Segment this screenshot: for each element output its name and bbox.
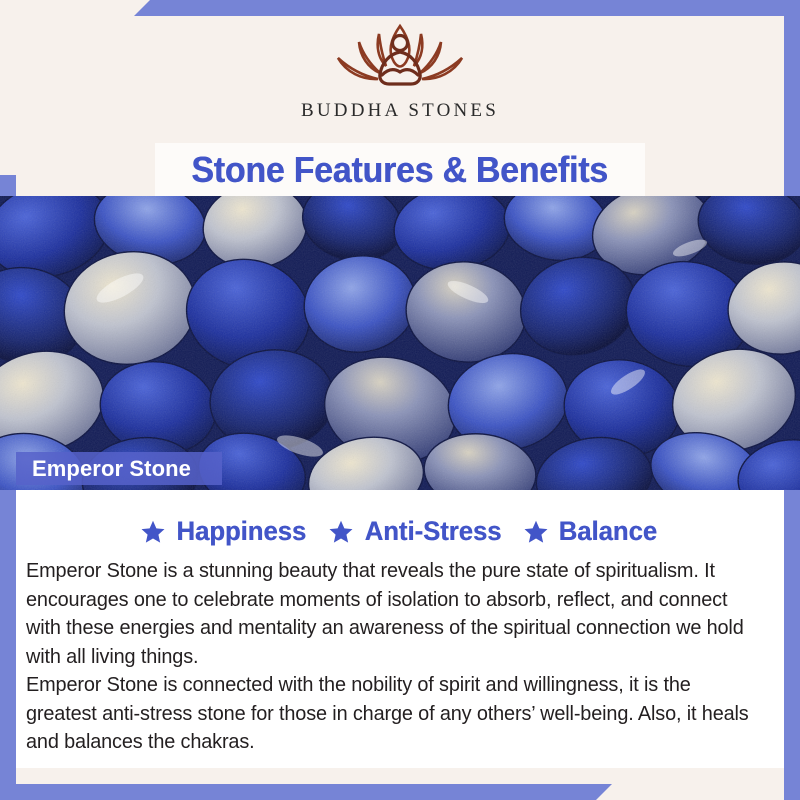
stone-photo xyxy=(0,196,800,490)
brand-name: BUDDHA STONES xyxy=(301,100,499,122)
poster-root: BUDDHA STONES Stone Features & Benefits xyxy=(0,0,800,800)
benefit-item: Happiness xyxy=(140,516,310,547)
stone-name-label: Emperor Stone xyxy=(16,452,222,485)
frame-band-top xyxy=(0,0,800,16)
star-icon xyxy=(140,519,166,545)
lapis-lazuli-stones-illustration xyxy=(0,196,800,490)
brand-logo: BUDDHA STONES xyxy=(0,16,800,142)
description-paragraph-1: Emperor Stone is a stunning beauty that … xyxy=(26,557,755,671)
page-title: Stone Features & Benefits xyxy=(192,149,609,191)
frame-band-bottom xyxy=(0,784,800,800)
benefit-label: Balance xyxy=(559,516,657,547)
star-icon xyxy=(523,519,549,545)
title-banner: Stone Features & Benefits xyxy=(155,143,645,196)
description-paragraph-2: Emperor Stone is connected with the nobi… xyxy=(26,671,755,757)
benefit-label: Anti-Stress xyxy=(365,516,502,547)
stone-name-text: Emperor Stone xyxy=(16,456,191,482)
benefits-row: Happiness Anti-Stress Balance xyxy=(16,516,784,547)
lotus-meditation-icon xyxy=(310,16,490,98)
benefit-item: Balance xyxy=(523,516,660,547)
benefit-item: Anti-Stress xyxy=(328,516,505,547)
description-block: Emperor Stone is a stunning beauty that … xyxy=(26,557,755,757)
star-icon xyxy=(328,519,354,545)
benefit-label: Happiness xyxy=(177,516,307,547)
